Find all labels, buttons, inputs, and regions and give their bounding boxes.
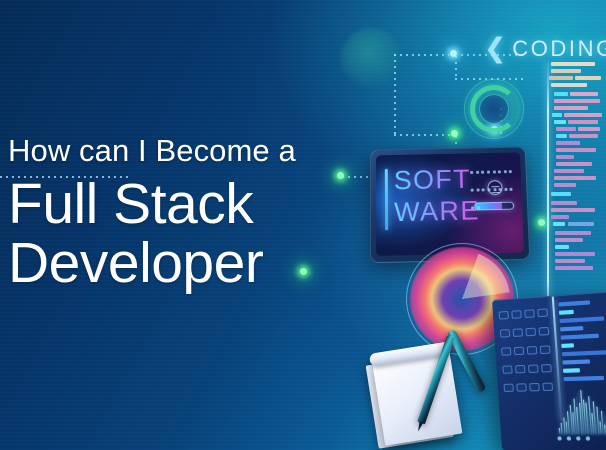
code-line — [549, 76, 573, 80]
code-line — [555, 252, 595, 256]
code-line — [552, 113, 562, 117]
laptop-code-lines — [558, 298, 606, 385]
software-title: SOFT WARE — [394, 163, 481, 228]
keyboard-key — [537, 309, 548, 318]
tablet-dot-matrix — [469, 161, 517, 215]
tablet-dot — [499, 188, 502, 191]
tablet-dot — [493, 170, 496, 173]
code-line — [551, 215, 569, 219]
laptop-code-line — [561, 334, 599, 340]
code-line — [556, 134, 567, 138]
software-line-2: WARE — [394, 194, 480, 228]
tablet-dot — [504, 187, 507, 190]
code-line — [569, 134, 598, 138]
tablet-dot — [481, 170, 484, 173]
tablet-dot — [488, 188, 491, 191]
tablet-dot — [476, 188, 479, 191]
laptop-code-line — [558, 300, 590, 306]
code-line — [555, 259, 585, 263]
keyboard-key — [527, 346, 538, 355]
keyboard-key — [538, 327, 549, 336]
code-line — [554, 92, 568, 96]
keyboard-key — [513, 329, 523, 338]
headline-line-1: How can I Become a — [8, 132, 358, 169]
circuit-trace — [455, 56, 457, 80]
tablet-dot — [493, 188, 496, 191]
laptop-dots — [557, 427, 596, 446]
keyboard-key — [500, 329, 510, 338]
code-line — [554, 183, 576, 187]
keyboard-key — [514, 347, 524, 356]
code-line — [551, 208, 595, 212]
keyboard-key — [512, 311, 522, 320]
keyboard-key — [528, 365, 539, 374]
tablet-dot — [476, 170, 479, 173]
laptop-code-line — [562, 359, 590, 364]
laptop-code-line — [564, 376, 605, 381]
keyboard-key — [542, 383, 553, 391]
hud-ring-icon — [470, 85, 518, 133]
keyboard-key — [499, 311, 509, 320]
code-spine — [547, 62, 549, 330]
laptop-code-line — [560, 326, 583, 331]
keyboard-key — [501, 348, 511, 356]
code-line — [578, 127, 600, 131]
code-line — [556, 148, 596, 152]
code-line — [551, 69, 581, 73]
code-line — [556, 127, 576, 131]
software-line-1: SOFT — [394, 163, 480, 196]
code-line — [556, 155, 574, 159]
code-column — [537, 62, 606, 330]
code-line — [551, 201, 577, 205]
keyboard-key — [541, 364, 552, 373]
tablet-dot — [510, 187, 513, 190]
code-line — [555, 245, 569, 249]
code-line — [575, 76, 601, 80]
tablet-dot — [477, 206, 480, 209]
code-line — [554, 99, 600, 103]
keyboard-key — [516, 384, 527, 392]
laptop-device — [492, 291, 606, 450]
headline-line-3: Developer — [8, 232, 358, 295]
laptop-code-line — [559, 310, 574, 315]
laptop-code-line — [562, 350, 606, 356]
tablet-screen: SOFT WARE — [376, 152, 524, 255]
coding-badge-label: CODING — [512, 36, 606, 62]
code-line — [551, 62, 595, 66]
tablet-dot — [482, 188, 485, 191]
tablet-dot — [498, 170, 501, 173]
keyboard-key — [503, 366, 513, 374]
tablet-dot — [487, 170, 490, 173]
coding-badge: ❮ CODING ❯ — [484, 33, 606, 64]
keyboard-key — [515, 365, 525, 373]
code-line — [554, 169, 584, 173]
headline-line-2: Full Stack — [8, 173, 358, 236]
code-line — [554, 120, 566, 124]
circuit-trace — [394, 134, 456, 136]
circuit-node — [450, 50, 457, 57]
chevron-left-icon: ❮ — [484, 33, 509, 64]
code-line — [556, 162, 592, 166]
code-line — [551, 192, 571, 196]
code-line — [568, 222, 594, 226]
laptop-code-line — [561, 343, 574, 348]
accent-bar — [385, 169, 388, 231]
banner-graphic: ❮ CODING ❯ SOFT WARE — [0, 0, 606, 450]
code-line — [554, 106, 588, 110]
keyboard-key — [524, 310, 535, 319]
code-line — [555, 231, 591, 235]
code-line — [554, 176, 596, 180]
keyboard-key — [529, 383, 540, 391]
circuit-trace — [394, 54, 396, 136]
tablet-dot — [471, 206, 474, 209]
code-line — [551, 83, 587, 87]
tablet-dot — [504, 170, 507, 173]
code-line — [555, 238, 583, 242]
tablet-dot — [470, 170, 473, 173]
tablet-dot — [471, 188, 474, 191]
teal-blob-decoration — [341, 28, 401, 88]
code-line — [570, 92, 598, 96]
keyboard-keys — [497, 305, 555, 399]
keyboard-key — [504, 384, 514, 392]
code-line — [553, 222, 565, 226]
laptop-code-line — [560, 316, 605, 323]
keyboard-key — [525, 328, 536, 337]
headline-block: How can I Become a Full Stack Developer — [8, 132, 358, 295]
keyboard-key — [540, 346, 551, 355]
circuit-node — [451, 130, 458, 137]
code-line — [564, 113, 602, 117]
code-line — [568, 120, 598, 124]
tablet-dot — [509, 170, 512, 173]
laptop-code-line — [563, 368, 580, 373]
circuit-trace — [394, 54, 449, 56]
code-line — [555, 266, 593, 270]
code-line — [556, 141, 580, 145]
